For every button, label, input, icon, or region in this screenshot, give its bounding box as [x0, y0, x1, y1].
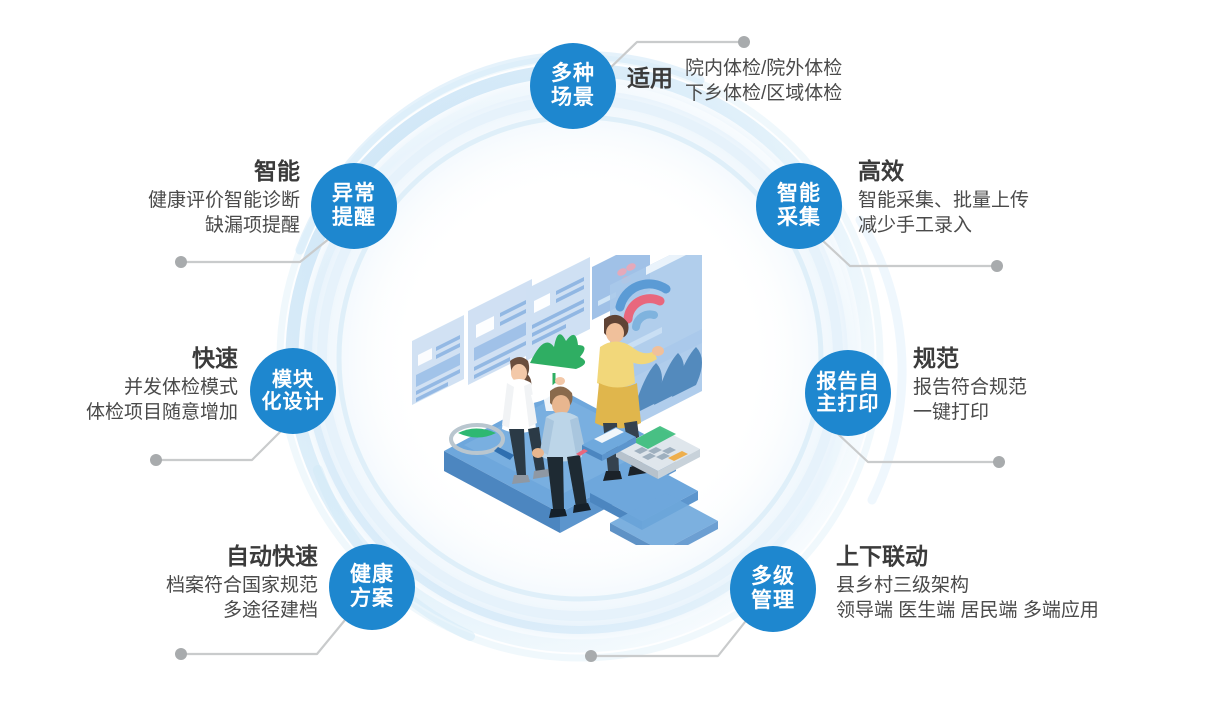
- text-health-plan: 自动快速 档案符合国家规范 多途径建档: [70, 543, 318, 624]
- infographic-canvas: 多种 场景 适用 院内体检/院外体检 下乡体检/区域体检 异常 提醒 智能 健康…: [0, 0, 1231, 701]
- body-line-2: 下乡体检/区域体检: [685, 81, 842, 106]
- bubble-multilevel-management[interactable]: 多级 管理: [730, 546, 816, 632]
- body-line-1: 院内体检/院外体检: [685, 56, 842, 81]
- bubble-line-1: 健康: [350, 563, 394, 587]
- bubble-abnormal-reminder[interactable]: 异常 提醒: [311, 163, 397, 249]
- body-line-1: 档案符合国家规范: [70, 573, 318, 598]
- body-line-2: 一键打印: [913, 400, 1027, 425]
- bubble-line-1: 多级: [751, 565, 795, 589]
- heading-self-print-report: 规范: [913, 345, 1027, 372]
- body-line-1: 县乡村三级架构: [836, 573, 1099, 598]
- text-smart-collection: 高效 智能采集、批量上传 减少手工录入: [858, 158, 1029, 239]
- bubble-line-2: 采集: [777, 206, 821, 230]
- text-modular-design: 快速 并发体检模式 体检项目随意增加: [0, 345, 238, 426]
- body-line-1: 并发体检模式: [0, 375, 238, 400]
- bubble-line-1: 报告自: [817, 371, 880, 393]
- text-self-print-report: 规范 报告符合规范 一键打印: [913, 345, 1027, 426]
- heading-health-plan: 自动快速: [70, 543, 318, 570]
- body-line-2: 缺漏项提醒: [60, 213, 300, 238]
- bubble-line-1: 智能: [777, 182, 821, 206]
- bubble-self-print-report[interactable]: 报告自 主打印: [805, 350, 891, 436]
- body-line-1: 智能采集、批量上传: [858, 188, 1029, 213]
- bubble-modular-design[interactable]: 模块 化设计: [250, 348, 336, 434]
- bubble-line-1: 异常: [332, 182, 376, 206]
- bubble-multi-scenario[interactable]: 多种 场景: [530, 43, 616, 129]
- bubble-line-2: 管理: [751, 589, 795, 613]
- text-multilevel-management: 上下联动 县乡村三级架构 领导端 医生端 居民端 多端应用: [836, 543, 1099, 624]
- bubble-line-2: 主打印: [817, 393, 880, 415]
- heading-multi-scenario: 适用: [627, 56, 673, 92]
- text-abnormal-reminder: 智能 健康评价智能诊断 缺漏项提醒: [60, 158, 300, 239]
- body-line-1: 报告符合规范: [913, 375, 1027, 400]
- body-line-2: 减少手工录入: [858, 213, 1029, 238]
- heading-abnormal-reminder: 智能: [60, 158, 300, 185]
- bubble-line-2: 方案: [350, 587, 394, 611]
- heading-multilevel-management: 上下联动: [836, 543, 1099, 570]
- bubble-line-1: 多种: [551, 62, 595, 86]
- body-line-2: 领导端 医生端 居民端 多端应用: [836, 598, 1099, 623]
- body-line-2: 体检项目随意增加: [0, 400, 238, 425]
- bubble-smart-collection[interactable]: 智能 采集: [756, 163, 842, 249]
- body-line-2: 多途径建档: [70, 598, 318, 623]
- body-line-1: 健康评价智能诊断: [60, 188, 300, 213]
- text-multi-scenario: 适用 院内体检/院外体检 下乡体检/区域体检: [627, 56, 842, 107]
- bubble-line-1: 模块: [272, 369, 314, 391]
- bubble-line-2: 场景: [551, 86, 595, 110]
- heading-smart-collection: 高效: [858, 158, 1029, 185]
- bubble-line-2: 化设计: [262, 391, 325, 413]
- heading-modular-design: 快速: [0, 345, 238, 372]
- bubble-health-plan[interactable]: 健康 方案: [329, 544, 415, 630]
- bubble-line-2: 提醒: [332, 206, 376, 230]
